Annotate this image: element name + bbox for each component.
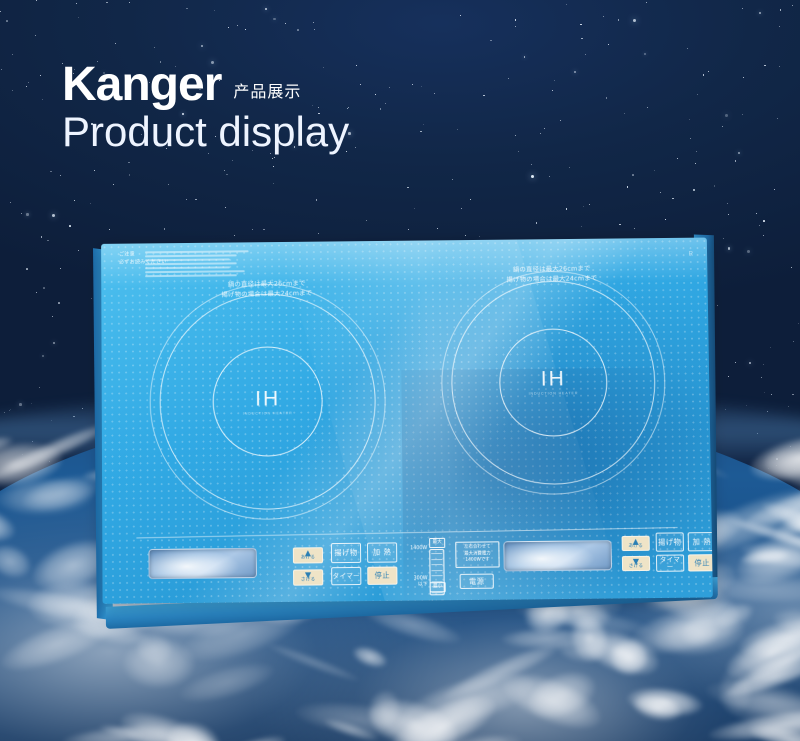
ih-logo-right: IH <box>441 366 665 392</box>
ih-logo-left: IH <box>150 386 386 412</box>
monitor-min-watt: 300W 以下 <box>401 576 427 588</box>
power-note-line3: 1400Wです <box>459 558 495 565</box>
caution-notice: ご注意 必ずお読みください <box>119 250 259 266</box>
brand-row: Kanger 产品展示 <box>62 62 349 108</box>
fry-button-left[interactable]: 揚げ物 <box>331 543 361 563</box>
down-button-label-left: さげる <box>301 579 315 584</box>
stop-button-right[interactable]: 停止 <box>688 554 713 571</box>
monitor-max-cap: 最大 <box>429 538 445 548</box>
display-window-left <box>148 548 257 579</box>
up-button-label-left: あげる <box>301 556 315 561</box>
up-button-right[interactable]: ▲ あげる <box>622 536 650 551</box>
stop-button-left[interactable]: 停止 <box>367 567 397 585</box>
title-block: Kanger 产品展示 Product display <box>62 62 349 154</box>
down-button-right[interactable]: ▼ さげる <box>622 556 650 571</box>
burner-pot-size-note-left: 鍋の直径は最大26cmまで 揚げ物の場合は最大24cmまで <box>149 278 385 302</box>
induction-cooktop: ご注意 必ずお読みください R IH INDUCTION HEATER 鍋の直径… <box>94 235 718 641</box>
heat-button-right[interactable]: 加 熱 <box>688 532 713 551</box>
power-button[interactable]: 電源 <box>460 574 494 589</box>
output-level-segment <box>431 551 442 554</box>
down-button-left[interactable]: ▼ さげる <box>293 569 323 585</box>
burner-zone-left[interactable]: IH INDUCTION HEATER 鍋の直径は最大26cmまで 揚げ物の場合… <box>149 283 387 521</box>
monitor-min-cap: 最小 <box>430 582 446 592</box>
up-button-left[interactable]: ▲ あげる <box>293 547 323 563</box>
brand-subtitle-cn: 产品展示 <box>233 78 301 102</box>
cooktop-glass-surface: ご注意 必ずお読みください R IH INDUCTION HEATER 鍋の直径… <box>101 238 713 604</box>
output-level-segment <box>431 573 442 576</box>
burner-pot-size-note-right: 鍋の直径は最大26cmまで 揚げ物の場合は最大24cmまで <box>440 263 664 287</box>
timer-button-right[interactable]: タイマー <box>656 554 684 571</box>
display-window-right <box>503 540 612 571</box>
fry-button-right[interactable]: 揚げ物 <box>656 532 684 551</box>
power-consumption-note: 左右合わせて 最大消費電力 1400Wです <box>455 541 499 567</box>
product-display-banner: Kanger 产品展示 Product display ご注意 必ずお読みくださ… <box>0 0 800 741</box>
control-panel: ▲ あげる ▼ さげる 揚げ物 加 熱 タイマー 停止 1400W 300W 以… <box>102 533 713 604</box>
burner-zone-right[interactable]: IH INDUCTION HEATER 鍋の直径は最大26cmまで 揚げ物の場合… <box>440 270 667 496</box>
monitor-min-watt-line2: 以下 <box>401 582 427 588</box>
power-note-line1: 左右合わせて <box>459 544 495 551</box>
output-level-segment <box>431 557 442 560</box>
down-button-label-right: さげる <box>629 565 644 570</box>
up-button-label-right: あげる <box>629 544 644 549</box>
page-title: Product display <box>62 110 349 154</box>
timer-button-left[interactable]: タイマー <box>331 567 361 585</box>
monitor-max-watt: 1400W <box>401 546 427 552</box>
brand-name: Kanger <box>62 62 221 108</box>
caution-text-lines <box>145 250 257 279</box>
corner-trademark: R <box>689 252 693 258</box>
output-level-segment <box>431 562 442 565</box>
heat-button-left[interactable]: 加 熱 <box>367 542 397 562</box>
output-level-segment <box>431 568 442 571</box>
